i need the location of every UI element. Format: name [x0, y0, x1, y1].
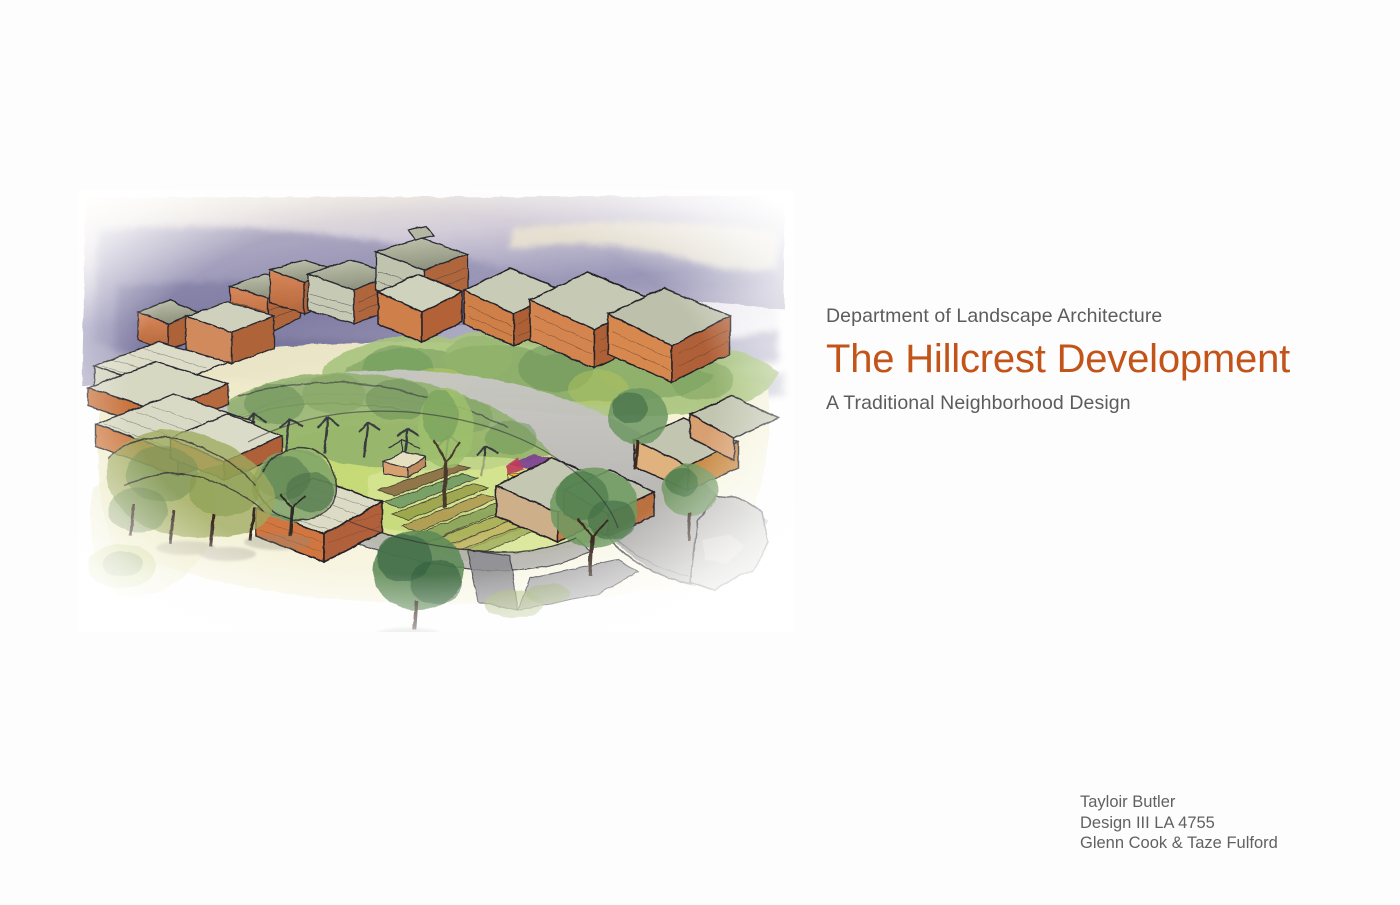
- credits-block: Tayloir Butler Design III LA 4755 Glenn …: [1080, 792, 1340, 854]
- department-line: Department of Landscape Architecture: [826, 303, 1346, 329]
- title-block: Department of Landscape Architecture The…: [826, 303, 1346, 416]
- watercolor-rendering-svg: [78, 190, 794, 632]
- cover-page: Department of Landscape Architecture The…: [0, 0, 1400, 905]
- page-title: The Hillcrest Development: [826, 333, 1346, 385]
- hillcrest-illustration: [78, 190, 794, 632]
- credit-author: Tayloir Butler: [1080, 792, 1340, 813]
- credit-instructors: Glenn Cook & Taze Fulford: [1080, 833, 1340, 854]
- page-subtitle: A Traditional Neighborhood Design: [826, 390, 1346, 416]
- credit-course: Design III LA 4755: [1080, 813, 1340, 834]
- paper-edge-fade: [78, 190, 794, 632]
